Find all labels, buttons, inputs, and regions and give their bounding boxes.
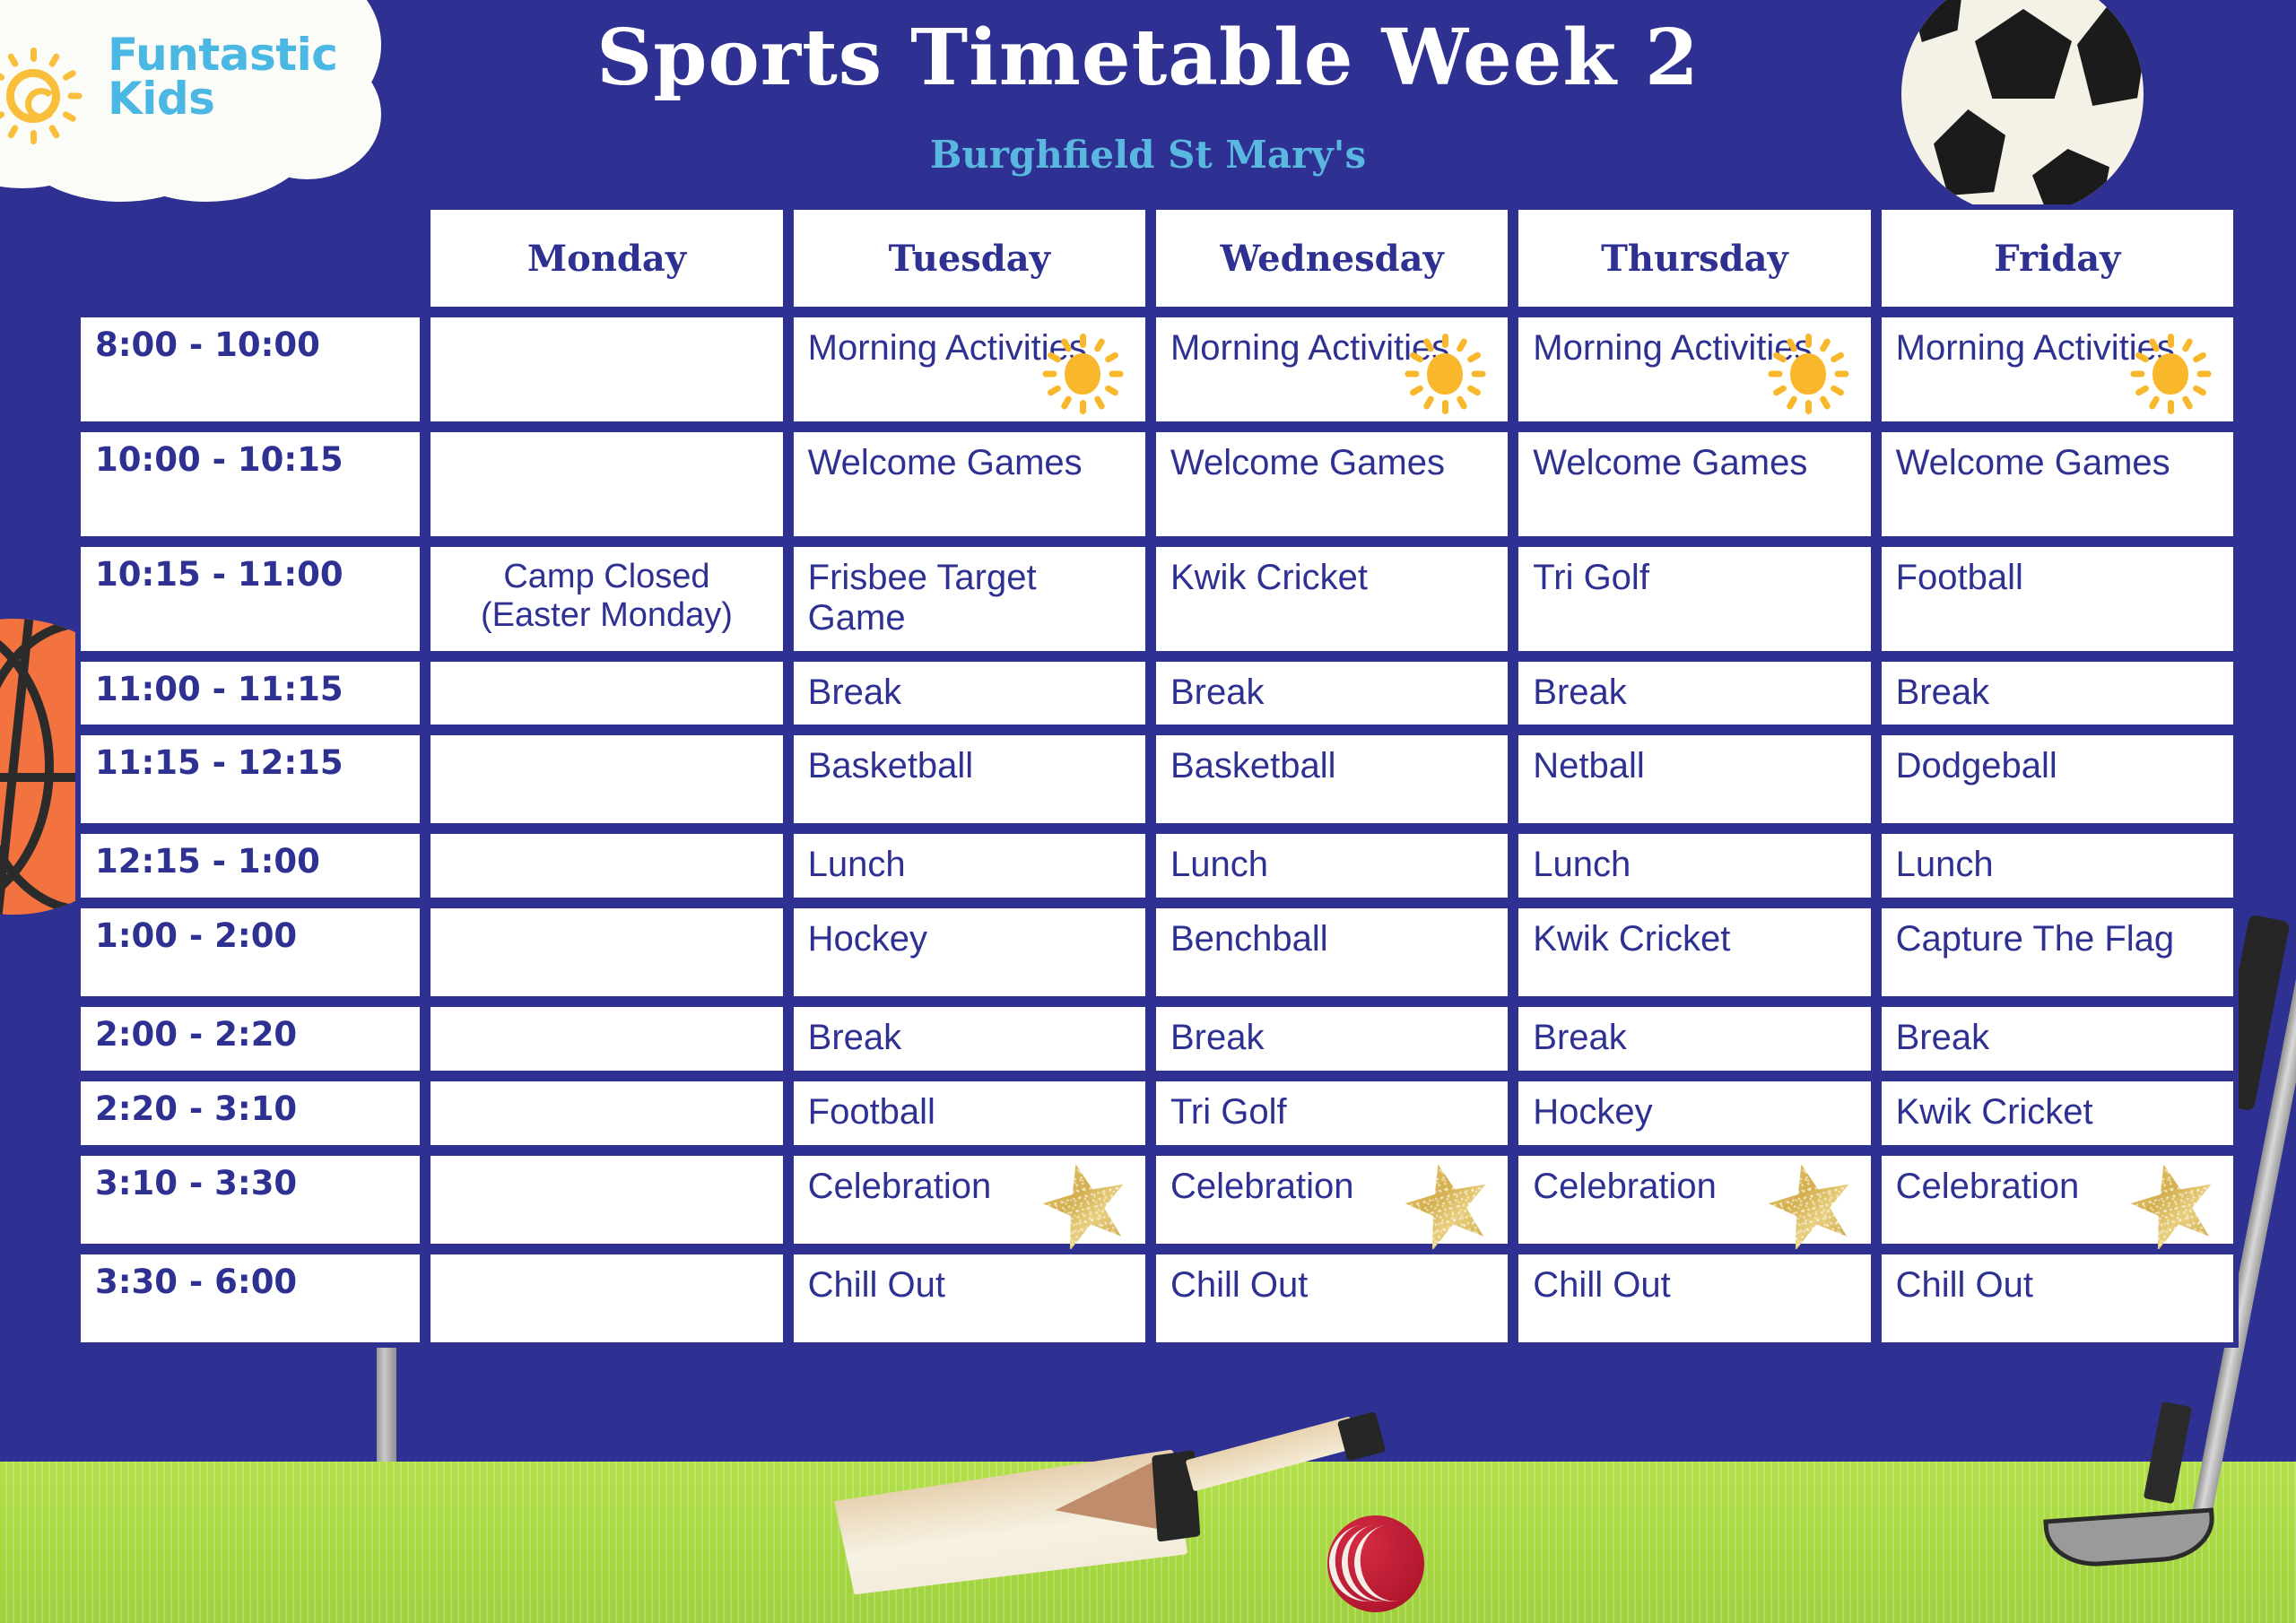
- activity-cell-wednesday-3: Kwik Cricket: [1151, 542, 1513, 656]
- table-row: 10:15 - 11:00Camp Closed (Easter Monday)…: [75, 542, 2239, 656]
- activity-label: Tri Golf: [1170, 1092, 1287, 1132]
- activity-cell-tuesday-8: Break: [788, 1002, 1151, 1076]
- activity-label: Break: [808, 673, 902, 712]
- activity-cell-thursday-4: Break: [1513, 656, 1875, 731]
- activity-label: Welcome Games: [1170, 443, 1445, 482]
- day-header-thursday: Thursday: [1513, 204, 1875, 312]
- activity-cell-friday-8: Break: [1876, 1002, 2239, 1076]
- activity-cell-friday-3: Football: [1876, 542, 2239, 656]
- day-header-friday: Friday: [1876, 204, 2239, 312]
- activity-cell-tuesday-1: Morning Activities: [788, 312, 1151, 427]
- activity-cell-tuesday-11: Chill Out: [788, 1249, 1151, 1348]
- activity-cell-thursday-2: Welcome Games: [1513, 427, 1875, 542]
- timetable-body: 8:00 - 10:00Morning ActivitiesMorning Ac…: [75, 312, 2239, 1348]
- activity-label: Lunch: [808, 845, 906, 884]
- time-slot-label: 11:15 - 12:15: [75, 730, 425, 829]
- activity-label: Hockey: [808, 919, 927, 959]
- activity-cell-friday-9: Kwik Cricket: [1876, 1076, 2239, 1150]
- activity-label: Lunch: [1896, 845, 1994, 884]
- activity-label: Break: [1896, 673, 1990, 712]
- sun-icon: [1404, 334, 1484, 414]
- activity-label: Camp Closed (Easter Monday): [481, 558, 733, 634]
- activity-label: Netball: [1533, 746, 1645, 785]
- time-slot-label: 2:20 - 3:10: [75, 1076, 425, 1150]
- activity-cell-tuesday-2: Welcome Games: [788, 427, 1151, 542]
- table-row: 12:15 - 1:00LunchLunchLunchLunch: [75, 829, 2239, 903]
- time-slot-label: 3:10 - 3:30: [75, 1150, 425, 1249]
- table-row: 1:00 - 2:00HockeyBenchballKwik CricketCa…: [75, 903, 2239, 1002]
- time-slot-label: 8:00 - 10:00: [75, 312, 425, 427]
- activity-label: Break: [1533, 673, 1627, 712]
- activity-label: Kwik Cricket: [1533, 919, 1730, 959]
- activity-label: Tri Golf: [1533, 558, 1649, 597]
- activity-label: Break: [1170, 673, 1265, 712]
- activity-cell-monday-6: [425, 829, 787, 903]
- activity-cell-friday-4: Break: [1876, 656, 2239, 731]
- activity-cell-tuesday-5: Basketball: [788, 730, 1151, 829]
- activity-cell-wednesday-2: Welcome Games: [1151, 427, 1513, 542]
- time-slot-label: 10:00 - 10:15: [75, 427, 425, 542]
- activity-cell-tuesday-4: Break: [788, 656, 1151, 731]
- activity-cell-monday-10: [425, 1150, 787, 1249]
- time-slot-label: 3:30 - 6:00: [75, 1249, 425, 1348]
- activity-label: Lunch: [1170, 845, 1268, 884]
- time-slot-label: 1:00 - 2:00: [75, 903, 425, 1002]
- activity-label: Celebration: [1896, 1167, 2080, 1206]
- activity-cell-wednesday-7: Benchball: [1151, 903, 1513, 1002]
- activity-cell-wednesday-4: Break: [1151, 656, 1513, 731]
- activity-cell-thursday-5: Netball: [1513, 730, 1875, 829]
- gold-star-icon: [1396, 1154, 1500, 1258]
- day-header-monday: Monday: [425, 204, 787, 312]
- activity-cell-monday-1: [425, 312, 787, 427]
- activity-cell-tuesday-7: Hockey: [788, 903, 1151, 1002]
- activity-label: Basketball: [1170, 746, 1336, 785]
- activity-cell-tuesday-10: Celebration: [788, 1150, 1151, 1249]
- activity-label: Welcome Games: [808, 443, 1083, 482]
- activity-cell-tuesday-6: Lunch: [788, 829, 1151, 903]
- activity-cell-wednesday-10: Celebration: [1151, 1150, 1513, 1249]
- activity-cell-thursday-1: Morning Activities: [1513, 312, 1875, 427]
- activity-cell-wednesday-5: Basketball: [1151, 730, 1513, 829]
- activity-cell-friday-11: Chill Out: [1876, 1249, 2239, 1348]
- activity-cell-tuesday-3: Frisbee Target Game: [788, 542, 1151, 656]
- page-title: Sports Timetable Week 2: [0, 20, 2296, 97]
- activity-cell-monday-4: [425, 656, 787, 731]
- table-row: 2:00 - 2:20BreakBreakBreakBreak: [75, 1002, 2239, 1076]
- activity-label: Celebration: [808, 1167, 992, 1206]
- activity-cell-wednesday-11: Chill Out: [1151, 1249, 1513, 1348]
- activity-label: Dodgeball: [1896, 746, 2057, 785]
- activity-label: Break: [1170, 1018, 1265, 1057]
- activity-label: Basketball: [808, 746, 974, 785]
- activity-label: Break: [808, 1018, 902, 1057]
- activity-cell-thursday-7: Kwik Cricket: [1513, 903, 1875, 1002]
- activity-cell-monday-2: [425, 427, 787, 542]
- activity-label: Break: [1896, 1018, 1990, 1057]
- sun-icon: [1041, 334, 1122, 414]
- activity-cell-friday-1: Morning Activities: [1876, 312, 2239, 427]
- activity-cell-wednesday-8: Break: [1151, 1002, 1513, 1076]
- activity-cell-friday-2: Welcome Games: [1876, 427, 2239, 542]
- activity-label: Chill Out: [1170, 1265, 1308, 1305]
- day-header-wednesday: Wednesday: [1151, 204, 1513, 312]
- table-row: 3:10 - 3:30CelebrationCelebrationCelebra…: [75, 1150, 2239, 1249]
- golf-club-band-icon: [2144, 1402, 2192, 1504]
- activity-cell-monday-9: [425, 1076, 787, 1150]
- gold-star-icon: [2122, 1154, 2226, 1258]
- table-row: 11:00 - 11:15BreakBreakBreakBreak: [75, 656, 2239, 731]
- activity-label: Football: [1896, 558, 2023, 597]
- page-subtitle: Burghfield St Mary's: [0, 136, 2296, 174]
- activity-cell-wednesday-6: Lunch: [1151, 829, 1513, 903]
- table-row: 3:30 - 6:00Chill OutChill OutChill OutCh…: [75, 1249, 2239, 1348]
- time-slot-label: 2:00 - 2:20: [75, 1002, 425, 1076]
- sun-icon: [2129, 334, 2210, 414]
- activity-label: Welcome Games: [1896, 443, 2170, 482]
- activity-cell-friday-10: Celebration: [1876, 1150, 2239, 1249]
- activity-cell-monday-8: [425, 1002, 787, 1076]
- activity-cell-thursday-8: Break: [1513, 1002, 1875, 1076]
- activity-cell-wednesday-9: Tri Golf: [1151, 1076, 1513, 1150]
- activity-cell-wednesday-1: Morning Activities: [1151, 312, 1513, 427]
- activity-label: Hockey: [1533, 1092, 1652, 1132]
- sun-icon: [1767, 334, 1848, 414]
- activity-cell-monday-5: [425, 730, 787, 829]
- activity-label: Chill Out: [1896, 1265, 2033, 1305]
- timetable-table: MondayTuesdayWednesdayThursdayFriday 8:0…: [75, 204, 2239, 1348]
- activity-label: Capture The Flag: [1896, 919, 2175, 959]
- timetable: MondayTuesdayWednesdayThursdayFriday 8:0…: [75, 204, 2239, 1348]
- activity-label: Kwik Cricket: [1170, 558, 1368, 597]
- activity-label: Break: [1533, 1018, 1627, 1057]
- activity-label: Lunch: [1533, 845, 1631, 884]
- activity-cell-friday-7: Capture The Flag: [1876, 903, 2239, 1002]
- activity-label: Chill Out: [1533, 1265, 1670, 1305]
- grass-icon: [0, 1462, 2296, 1623]
- table-row: 8:00 - 10:00Morning ActivitiesMorning Ac…: [75, 312, 2239, 427]
- activity-label: Football: [808, 1092, 935, 1132]
- activity-label: Celebration: [1533, 1167, 1717, 1206]
- time-slot-label: 10:15 - 11:00: [75, 542, 425, 656]
- activity-label: Welcome Games: [1533, 443, 1807, 482]
- cricket-ball-icon: [1327, 1515, 1424, 1612]
- table-row: 2:20 - 3:10FootballTri GolfHockeyKwik Cr…: [75, 1076, 2239, 1150]
- activity-label: Frisbee Target Game: [808, 558, 1037, 638]
- activity-label: Celebration: [1170, 1167, 1354, 1206]
- table-row: 11:15 - 12:15BasketballBasketballNetball…: [75, 730, 2239, 829]
- time-column-header: [75, 204, 425, 312]
- activity-label: Kwik Cricket: [1896, 1092, 2093, 1132]
- time-slot-label: 12:15 - 1:00: [75, 829, 425, 903]
- day-header-tuesday: Tuesday: [788, 204, 1151, 312]
- activity-cell-friday-5: Dodgeball: [1876, 730, 2239, 829]
- cricket-bat-icon: [827, 1439, 1259, 1602]
- activity-cell-thursday-10: Celebration: [1513, 1150, 1875, 1249]
- activity-cell-thursday-3: Tri Golf: [1513, 542, 1875, 656]
- activity-cell-monday-11: [425, 1249, 787, 1348]
- activity-cell-monday-7: [425, 903, 787, 1002]
- time-slot-label: 11:00 - 11:15: [75, 656, 425, 731]
- activity-cell-friday-6: Lunch: [1876, 829, 2239, 903]
- activity-cell-thursday-9: Hockey: [1513, 1076, 1875, 1150]
- activity-cell-monday-3: Camp Closed (Easter Monday): [425, 542, 787, 656]
- golf-club-head-icon: [2043, 1507, 2216, 1569]
- table-row: 10:00 - 10:15Welcome GamesWelcome GamesW…: [75, 427, 2239, 542]
- activity-label: Chill Out: [808, 1265, 945, 1305]
- gold-star-icon: [1759, 1154, 1863, 1258]
- poster-root: C Funtastic Kids Sports Timetable We: [0, 0, 2296, 1623]
- activity-cell-tuesday-9: Football: [788, 1076, 1151, 1150]
- gold-star-icon: [1034, 1154, 1138, 1258]
- timetable-header: MondayTuesdayWednesdayThursdayFriday: [75, 204, 2239, 312]
- activity-cell-thursday-11: Chill Out: [1513, 1249, 1875, 1348]
- activity-label: Benchball: [1170, 919, 1328, 959]
- activity-cell-thursday-6: Lunch: [1513, 829, 1875, 903]
